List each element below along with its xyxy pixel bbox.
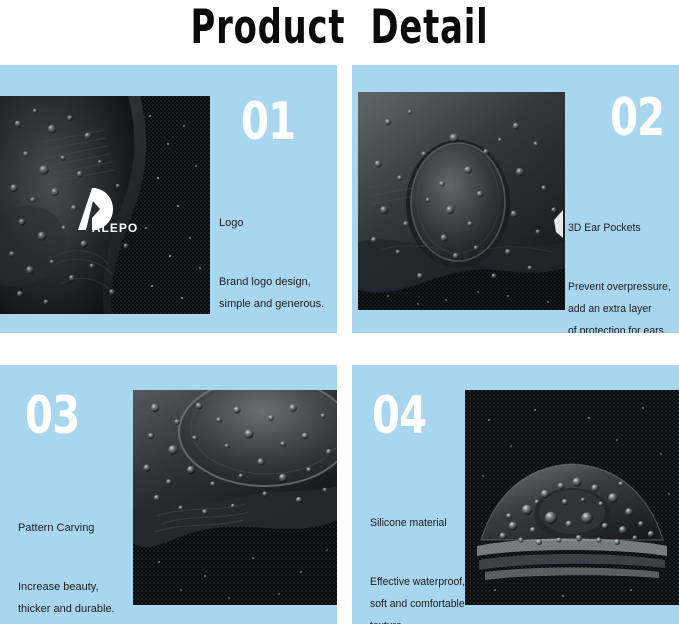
detail-panel-03: 03 Pattern Carving Increase beauty, thic… xyxy=(0,365,337,624)
panel-body-02: Prevent overpressure, add an extra layer… xyxy=(568,276,674,333)
panel-body-03: Increase beauty, thicker and durable. xyxy=(18,576,150,620)
brand-logo-wordmark: ALEPO xyxy=(86,191,144,235)
page-title: Product Detail xyxy=(68,2,611,54)
panel-number-04: 04 xyxy=(372,390,426,442)
product-photo-02 xyxy=(358,92,565,310)
panel-number-01: 01 xyxy=(241,96,295,148)
panel-heading-04: Silicone material xyxy=(370,512,482,534)
product-photo-03 xyxy=(133,390,337,605)
detail-panel-02: 02 3D Ear Pockets Prevent overpressure, … xyxy=(352,65,679,333)
detail-panel-01: ALEPO 01 Logo Brand logo design, simple … xyxy=(0,65,337,333)
panel-heading-02: 3D Ear Pockets xyxy=(568,217,674,239)
photo-04-artwork xyxy=(465,390,679,605)
product-photo-01: ALEPO xyxy=(0,96,210,314)
photo-03-artwork xyxy=(133,390,337,605)
photo-02-artwork xyxy=(358,92,565,310)
panel-body-04: Effective waterproof, soft and comfortab… xyxy=(370,571,482,624)
product-photo-04 xyxy=(465,390,679,605)
panel-body-01: Brand logo design, simple and generous. xyxy=(219,271,337,315)
panel-heading-01: Logo xyxy=(219,212,337,234)
title-bar: Product Detail xyxy=(0,0,679,60)
panel-text-01: Logo Brand logo design, simple and gener… xyxy=(219,190,337,333)
panel-text-03: Pattern Carving Increase beauty, thicker… xyxy=(18,495,150,624)
panel-heading-03: Pattern Carving xyxy=(18,517,150,539)
panel-text-02: 3D Ear Pockets Prevent overpressure, add… xyxy=(568,195,674,333)
detail-panel-04: 04 Silicone material Effective waterproo… xyxy=(352,365,679,624)
product-detail-infographic: Product Detail xyxy=(0,0,679,629)
panel-text-04: Silicone material Effective waterproof, … xyxy=(370,490,482,624)
brand-logo-text-wrap: ALEPO xyxy=(86,191,144,235)
panel-number-03: 03 xyxy=(25,390,79,442)
brand-logo-label: ALEPO xyxy=(92,221,138,235)
panel-number-02: 02 xyxy=(610,92,664,144)
